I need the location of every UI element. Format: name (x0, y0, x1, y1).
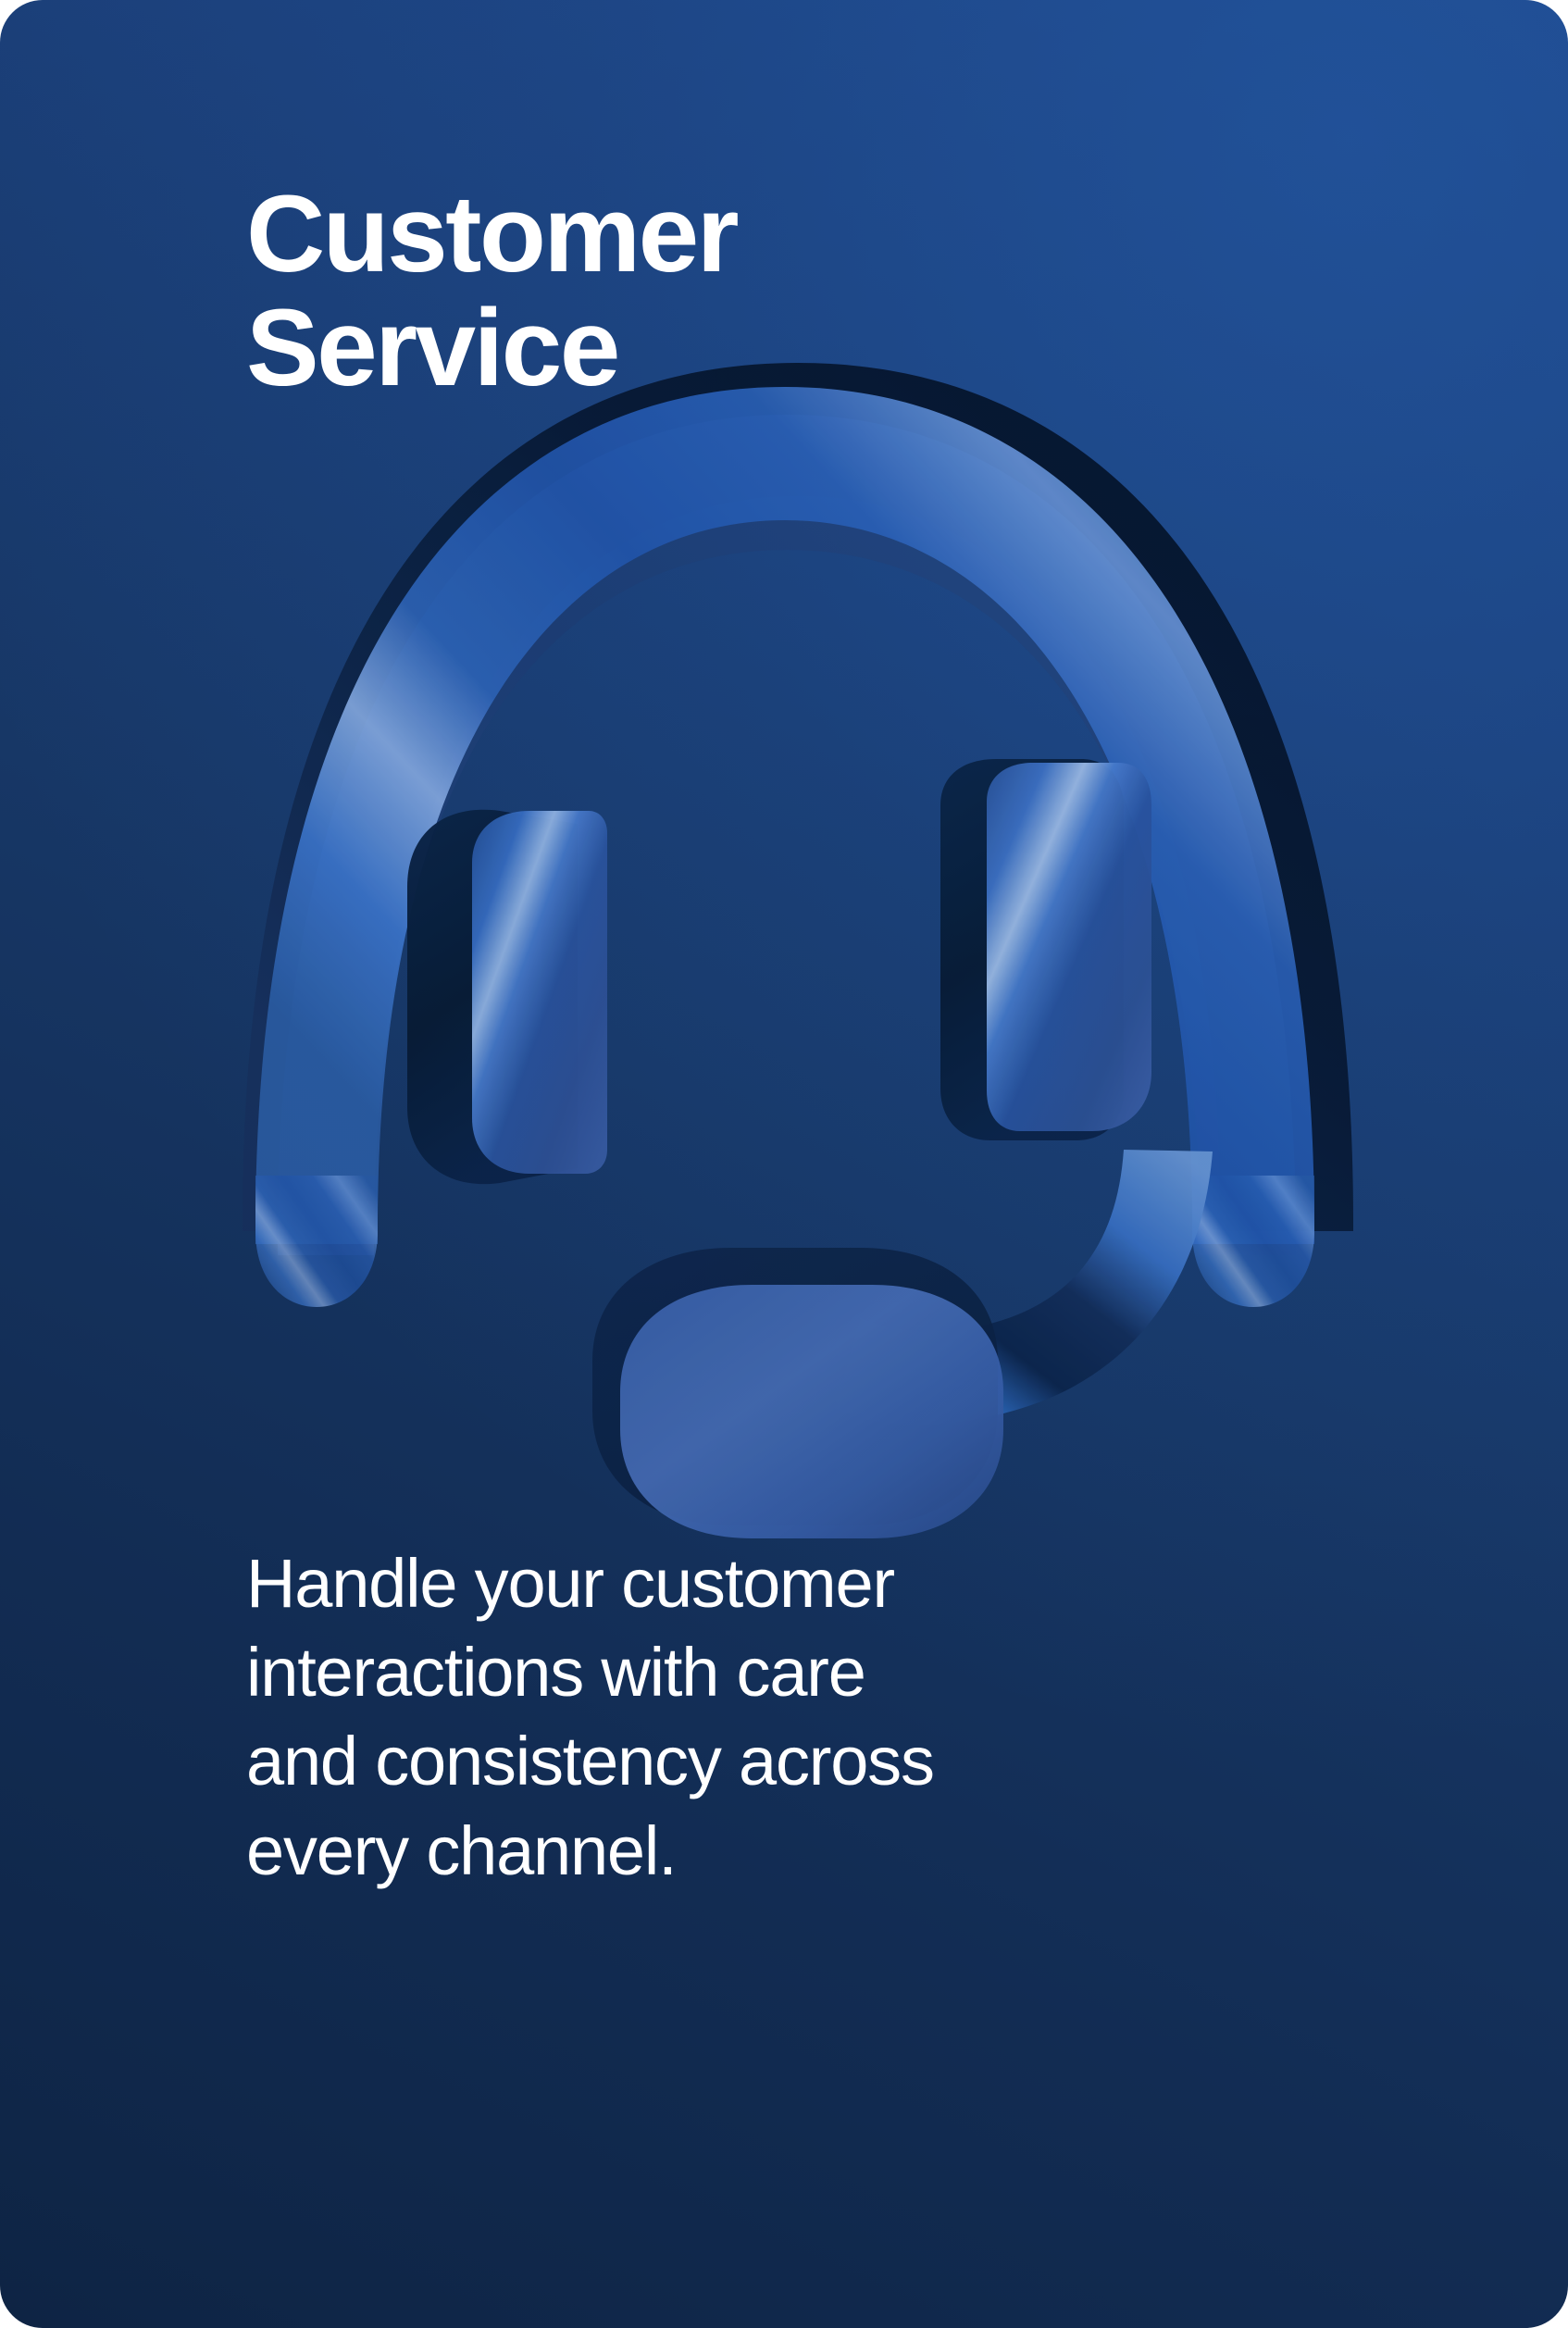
card-content: Customer Service Handle your customer in… (0, 0, 1568, 2328)
customer-service-card: Customer Service Handle your customer in… (0, 0, 1568, 2328)
card-title: Customer Service (246, 178, 1264, 405)
card-description: Handle your customer interactions with c… (246, 1539, 1385, 1896)
